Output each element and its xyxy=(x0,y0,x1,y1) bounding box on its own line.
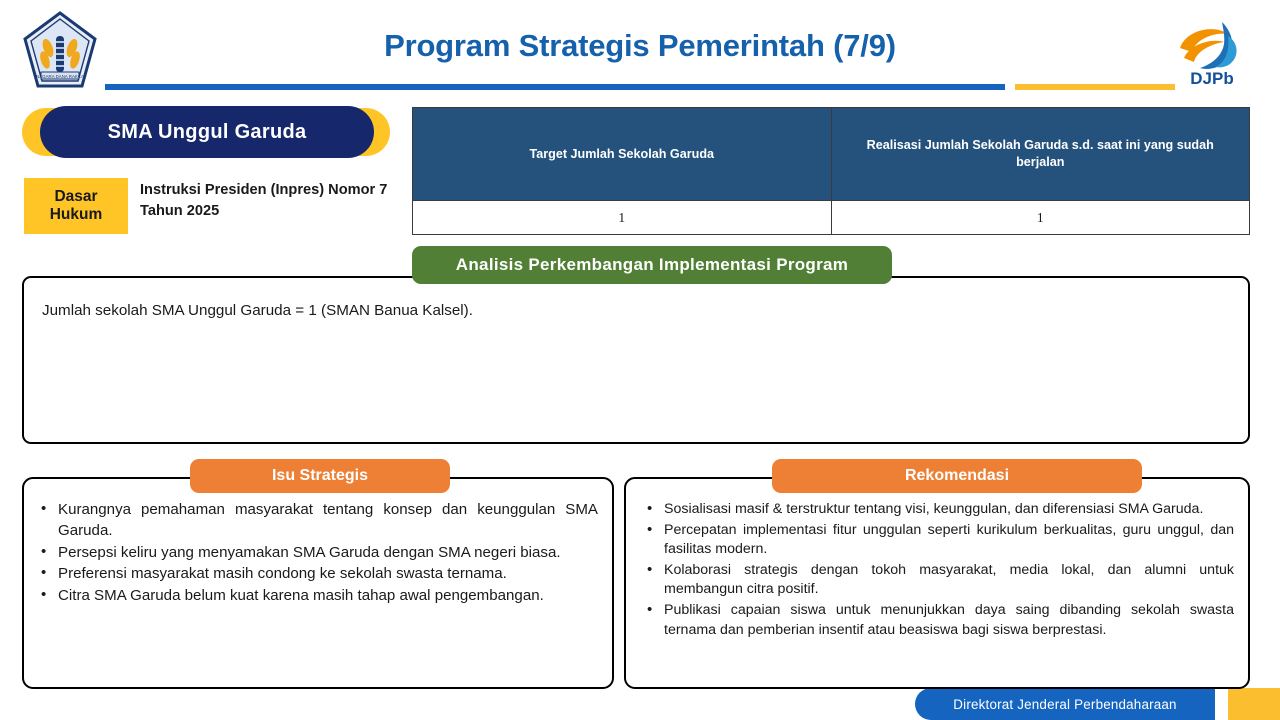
analysis-body-text: Jumlah sekolah SMA Unggul Garuda = 1 (SM… xyxy=(42,300,1230,322)
list-item: Persepsi keliru yang menyamakan SMA Garu… xyxy=(38,543,598,564)
target-realization-table: Target Jumlah Sekolah Garuda Realisasi J… xyxy=(412,107,1250,235)
list-item: Percepatan implementasi fitur unggulan s… xyxy=(644,521,1234,560)
svg-text:NAGARA DANA RAKCA: NAGARA DANA RAKCA xyxy=(36,74,84,79)
table-cell-realisasi-value: 1 xyxy=(831,201,1250,235)
list-item: Preferensi masyarakat masih condong ke s… xyxy=(38,564,598,585)
recommendations-banner: Rekomendasi xyxy=(772,459,1142,493)
page-title: Program Strategis Pemerintah (7/9) xyxy=(110,28,1170,64)
footer-bar: Direktorat Jenderal Perbendaharaan xyxy=(915,688,1215,720)
program-title-pill: SMA Unggul Garuda xyxy=(22,108,390,156)
program-pill-label: SMA Unggul Garuda xyxy=(108,121,307,144)
list-item: Kurangnya pemahaman masyarakat tentang k… xyxy=(38,500,598,542)
slide-canvas: NAGARA DANA RAKCA Program Strategis Peme… xyxy=(0,0,1280,720)
legal-basis-badge-line2: Hukum xyxy=(50,206,103,224)
list-item: Sosialisasi masif & terstruktur tentang … xyxy=(644,500,1234,520)
svg-text:DJPb: DJPb xyxy=(1190,69,1233,88)
program-pill-body: SMA Unggul Garuda xyxy=(40,106,374,158)
footer-label: Direktorat Jenderal Perbendaharaan xyxy=(953,697,1176,712)
header-rule-blue xyxy=(105,84,1005,90)
issues-banner: Isu Strategis xyxy=(190,459,450,493)
analysis-banner-label: Analisis Perkembangan Implementasi Progr… xyxy=(456,255,848,275)
legal-basis-text: Instruksi Presiden (Inpres) Nomor 7 Tahu… xyxy=(140,180,402,221)
analysis-box: Jumlah sekolah SMA Unggul Garuda = 1 (SM… xyxy=(22,276,1250,444)
legal-basis-badge: Dasar Hukum xyxy=(24,178,128,234)
legal-basis-badge-line1: Dasar xyxy=(54,188,97,206)
list-item: Kolaborasi strategis dengan tokoh masyar… xyxy=(644,561,1234,600)
recommendations-list: Sosialisasi masif & terstruktur tentang … xyxy=(644,500,1234,641)
analysis-banner: Analisis Perkembangan Implementasi Progr… xyxy=(412,246,892,284)
header-rule-yellow xyxy=(1015,84,1175,90)
recommendations-banner-label: Rekomendasi xyxy=(905,467,1009,485)
list-item: Publikasi capaian siswa untuk menunjukka… xyxy=(644,601,1234,640)
table-header-row: Target Jumlah Sekolah Garuda Realisasi J… xyxy=(413,108,1250,201)
kemenkeu-logo-icon: NAGARA DANA RAKCA xyxy=(22,10,98,94)
table-row: 1 1 xyxy=(413,201,1250,235)
footer-accent-block xyxy=(1228,688,1280,720)
table-col-realisasi: Realisasi Jumlah Sekolah Garuda s.d. saa… xyxy=(831,108,1250,201)
issues-banner-label: Isu Strategis xyxy=(272,467,368,485)
issues-list: Kurangnya pemahaman masyarakat tentang k… xyxy=(38,500,598,608)
djpb-logo-icon: DJPb xyxy=(1166,14,1258,90)
table-cell-target-value: 1 xyxy=(413,201,832,235)
list-item: Citra SMA Garuda belum kuat karena masih… xyxy=(38,586,598,607)
table-col-target: Target Jumlah Sekolah Garuda xyxy=(413,108,832,201)
